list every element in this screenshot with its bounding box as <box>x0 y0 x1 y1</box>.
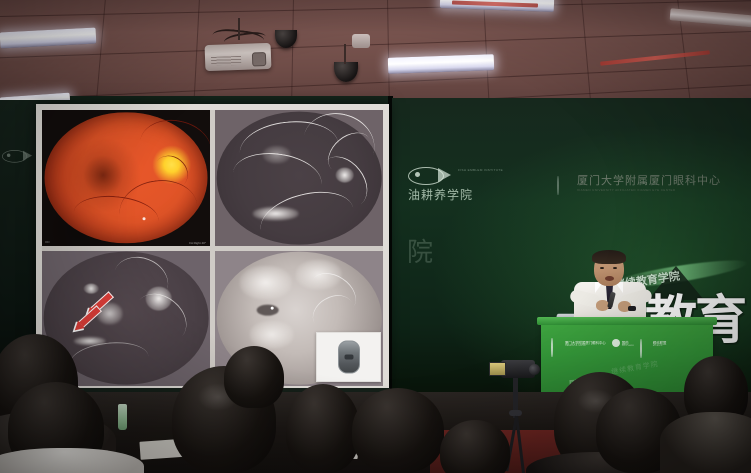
smoke-detector <box>352 34 370 48</box>
audience-shoulders <box>660 412 751 473</box>
lectern-faint-graphic: 继续教育学院 <box>610 359 659 377</box>
device-inset-photo <box>316 332 381 382</box>
retina-fundus-image <box>45 112 208 243</box>
projector-mount <box>238 18 240 40</box>
wall-watermark: 院 <box>407 232 433 269</box>
camera-lens-icon <box>529 364 540 375</box>
lectern-top-edge <box>537 317 717 325</box>
eye-icon <box>551 339 563 347</box>
projector-lens <box>252 52 266 66</box>
eye-center-logo-strip: 厦门大学附属厦门眼科中心 XIAMEN UNIVERSITY AFFILIATE… <box>557 172 721 192</box>
slide-panel-fa-early <box>215 110 383 246</box>
fish-icon <box>408 167 454 183</box>
fundus-stamp-right: FA Right 40° <box>189 241 206 245</box>
ceiling-light-panel <box>670 8 751 28</box>
ceiling-trim-strip <box>600 50 710 65</box>
projection-screen: OD FA Right 40° <box>36 104 389 392</box>
ceiling-light-panel <box>388 54 494 74</box>
fish-icon <box>2 150 34 161</box>
wristwatch <box>628 306 636 311</box>
device-image <box>338 341 360 374</box>
slide-panel-color-fundus: OD FA Right 40° <box>42 110 210 246</box>
eye-center-en: XIAMEN UNIVERSITY AFFILIATED XIAMEN EYE … <box>577 188 721 192</box>
wall-institute-logo: FISH EMBLEM INSTITUTE 油耕养学院 <box>408 167 473 203</box>
water-bottle <box>118 404 127 430</box>
ceiling <box>0 0 751 108</box>
lectern-logo-sub: XIAMEN EYE CENTER <box>565 345 606 347</box>
institute-logo-en: FISH EMBLEM INSTITUTE <box>458 168 518 172</box>
projector-vents <box>211 56 241 66</box>
eye-icon <box>557 177 573 188</box>
lectern-logo-sub: ALLIANCE <box>653 345 667 347</box>
lectern-logo-sponsor-3: 眼科联盟 ALLIANCE <box>640 340 667 347</box>
angiogram-image <box>217 111 382 244</box>
fundus-stamp-left: OD <box>45 240 50 244</box>
audience-head <box>224 346 284 408</box>
circle-icon <box>612 339 620 347</box>
lectern-logo-sponsor-2: 国药 SINOPHARM <box>612 339 634 347</box>
eye-center-cn: 厦门大学附属厦门眼科中心 <box>577 172 721 188</box>
audience-head <box>352 388 444 473</box>
presenter-hair <box>592 250 626 264</box>
speaker-mount <box>344 44 346 64</box>
institute-logo-cn: 油耕养学院 <box>408 186 473 203</box>
slide-four-panel: OD FA Right 40° <box>42 110 383 386</box>
ceiling-projector <box>205 43 272 71</box>
lectern-logo-eye-center: 厦门大学附属厦门眼科中心 XIAMEN EYE CENTER <box>551 339 606 347</box>
ceiling-speaker-dome <box>275 30 297 48</box>
ceiling-light-panel <box>0 27 96 48</box>
lectern-logo-row: 厦门大学附属厦门眼科中心 XIAMEN EYE CENTER 国药 SINOPH… <box>551 337 703 349</box>
camera-lcd-screen <box>489 362 506 376</box>
lecture-hall-photo: FISH EMBLEM INSTITUTE 油耕养学院 院 厦门大学附属厦门眼科… <box>0 0 751 473</box>
eye-icon <box>640 340 651 347</box>
presenter-mouth <box>605 276 614 281</box>
audience-head <box>286 384 360 473</box>
lectern-logo-sub: SINOPHARM <box>622 345 634 347</box>
ceiling-speaker-dome <box>334 62 358 82</box>
